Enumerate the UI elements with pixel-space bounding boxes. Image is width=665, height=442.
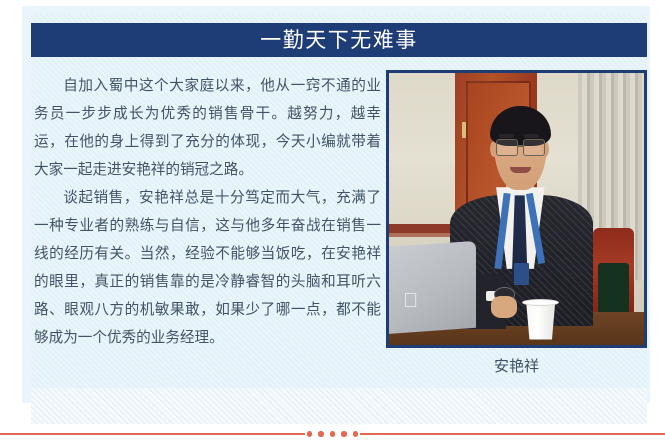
page-root: 一勤天下无难事 自加入蜀中这个大家庭以来，他从一窍不通的业务员一步步成长为优秀的… [0, 0, 665, 442]
article-paragraph-1: 自加入蜀中这个大家庭以来，他从一窍不通的业务员一步步成长为优秀的销售骨干。越努力… [34, 72, 381, 184]
footer-rule-dots [305, 429, 360, 439]
footer-rule-dot [318, 431, 324, 437]
footer-rule-dot [353, 431, 359, 437]
photo-person-eyebrow-left [499, 134, 514, 138]
photo-person-glasses-left [496, 139, 518, 156]
footer-decorative-rule [0, 429, 665, 439]
photo-person-glasses-bridge [517, 145, 523, 146]
footer-rule-dot [330, 431, 336, 437]
article-body: 自加入蜀中这个大家庭以来，他从一窍不通的业务员一步步成长为优秀的销售骨干。越努力… [34, 72, 381, 352]
photo-laptop [386, 241, 476, 334]
article-title: 一勤天下无难事 [260, 30, 418, 51]
photo-door-handle [462, 122, 466, 138]
portrait-photo-frame:  [386, 70, 647, 348]
footer-rule-dot [341, 431, 347, 437]
footer-rule-right-line [360, 433, 665, 435]
photo-paper-cup [524, 301, 557, 339]
photo-person-eyebrow-right [524, 134, 539, 138]
photo-person-mouth [510, 167, 530, 173]
photo-person-glasses-right [523, 139, 545, 156]
article-paragraph-2: 谈起销售，安艳祥总是十分笃定而大气，充满了一种专业者的熟练与自信，这与他多年奋战… [34, 184, 381, 352]
apple-logo-icon:  [402, 291, 420, 315]
photo-person-badge [514, 263, 529, 285]
photo-chair-seat [598, 263, 629, 317]
portrait-photo-caption: 安艳祥 [386, 355, 647, 376]
portrait-photo-block:  [386, 70, 647, 348]
article-title-bar: 一勤天下无难事 [31, 23, 647, 57]
footer-rule-dot [307, 431, 313, 437]
photo-person-hand [491, 296, 517, 318]
footer-rule-left-line [0, 433, 305, 435]
